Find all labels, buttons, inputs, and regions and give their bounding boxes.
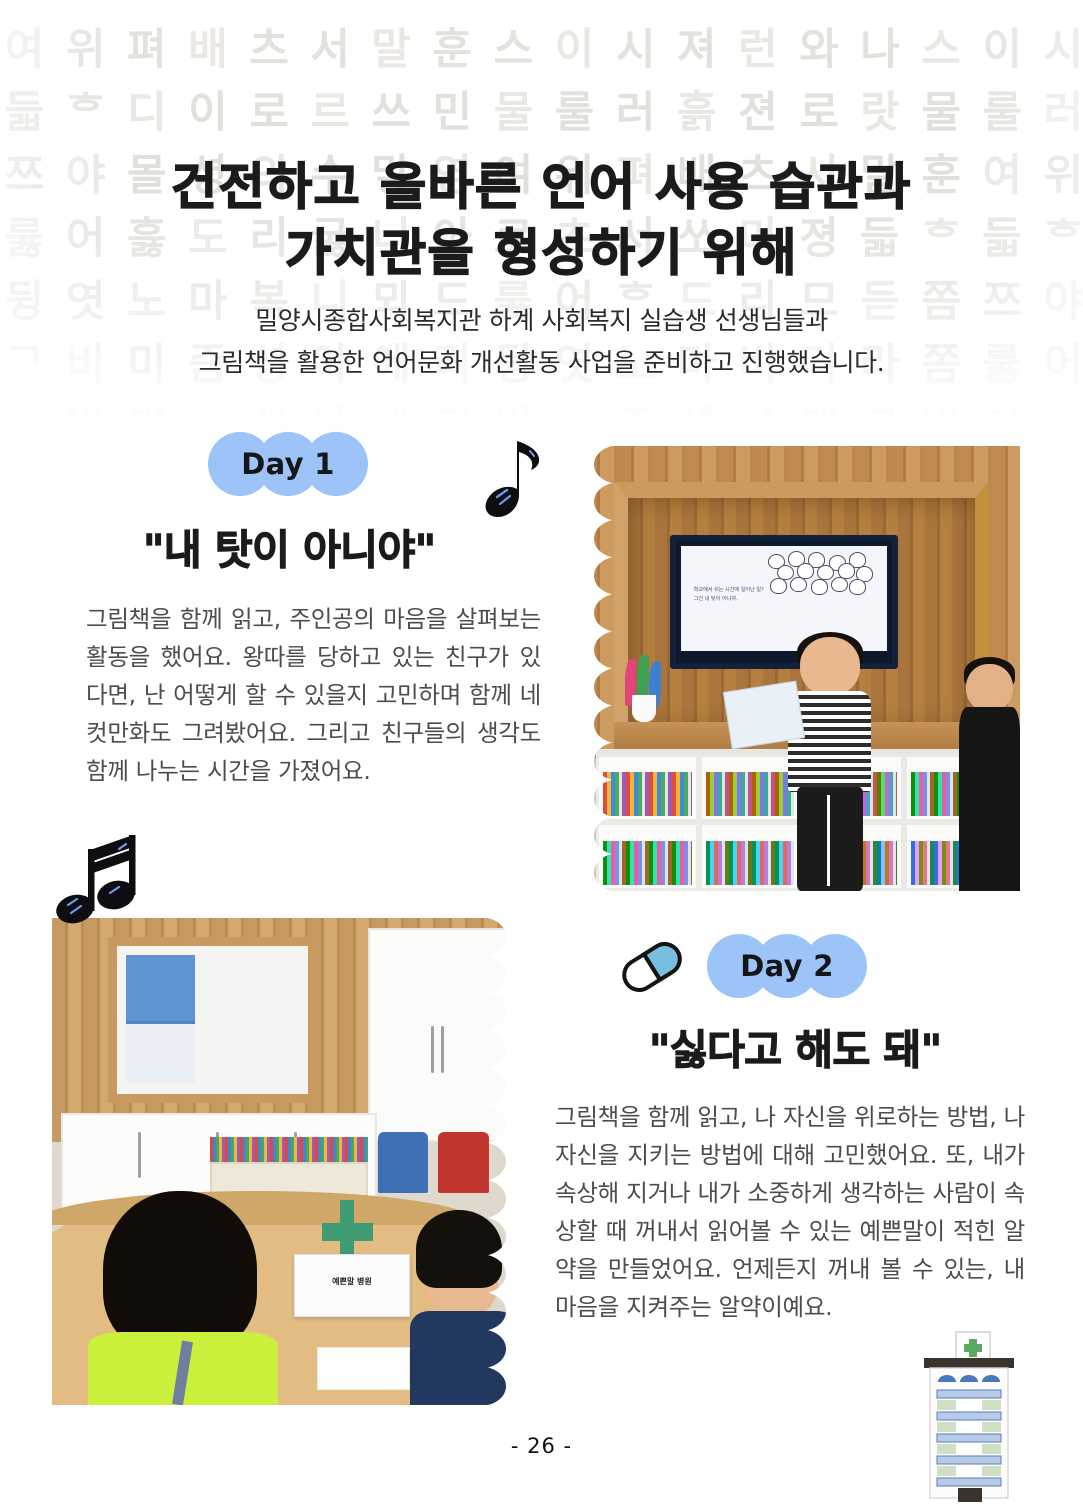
day-1-body-text: 그림책을 함께 읽고, 주인공의 마음을 살펴보는 활동을 했어요. 왕따를 당…: [86, 600, 541, 790]
background-glyph: 시: [605, 14, 666, 77]
background-glyph: 배: [177, 14, 238, 77]
background-glyph: 펴: [116, 14, 177, 77]
background-glyph: 서: [300, 14, 361, 77]
background-glyph: 비: [911, 392, 972, 430]
doodle-character: [831, 577, 848, 593]
background-glyph: 아: [300, 392, 361, 430]
background-glyph: 이: [972, 14, 1033, 77]
pretty-words-hospital-box: 예쁜말 병원: [294, 1254, 410, 1317]
beamed-sixteenth-note-icon: [55, 833, 155, 937]
bookshelf-cell: [699, 822, 802, 891]
background-glyph: 위: [55, 14, 116, 77]
background-glyph: 물: [483, 77, 544, 140]
background-glyph: 훈: [422, 14, 483, 77]
background-glyph: 미: [544, 392, 605, 430]
doodle-character: [817, 565, 834, 581]
background-glyph: 룰: [972, 77, 1033, 140]
capsule-pill-icon: [616, 936, 688, 998]
day-1-badge: Day 1: [208, 432, 368, 496]
subtitle-line-2: 그림책을 활용한 언어문화 개선활동 사업을 준비하고 진행했습니다.: [0, 342, 1083, 384]
background-glyph: 디: [116, 77, 177, 140]
student-presenting: [788, 637, 871, 891]
doodle-character: [790, 577, 807, 593]
background-glyph: 물: [911, 77, 972, 140]
background-glyph: ᄀ: [1033, 392, 1083, 430]
student-back-view: [103, 1191, 256, 1405]
background-glyph: 시: [1033, 14, 1083, 77]
background-glyph: 흙: [666, 77, 727, 140]
background-glyph: 스: [483, 14, 544, 77]
books: [706, 772, 795, 816]
background-glyph: 와: [788, 14, 849, 77]
background-glyph: 러: [605, 77, 666, 140]
round-table-activity-photo: 예쁜말 병원: [52, 918, 517, 1405]
background-glyph: 스: [911, 14, 972, 77]
background-glyph: 미: [972, 392, 1033, 430]
background-glyph: 말: [361, 14, 422, 77]
day-1-title: "내 탓이 아니야": [143, 516, 436, 576]
doodle-character: [811, 579, 828, 595]
title-line-2: 가치관을 형성하기 위해: [0, 220, 1083, 286]
wall-poster: [126, 955, 195, 1082]
background-glyph: 런: [727, 14, 788, 77]
bookshelf-cell: [699, 754, 802, 823]
bookshelf-cell: [596, 754, 699, 823]
background-glyph: 랏: [850, 77, 911, 140]
page-title: 건전하고 올바른 언어 사용 습관과 가치관을 형성하기 위해: [0, 154, 1083, 286]
title-line-1: 건전하고 올바른 언어 사용 습관과: [0, 154, 1083, 220]
background-glyph: 민: [422, 77, 483, 140]
bookshelf-cell: [596, 822, 699, 891]
day-2-badge: Day 2: [707, 934, 867, 998]
background-glyph: ᄀ: [422, 392, 483, 430]
background-glyph: 젼: [727, 77, 788, 140]
books: [706, 841, 795, 885]
doodle-character: [849, 579, 866, 595]
background-glyph: 셩: [666, 392, 727, 430]
books: [603, 772, 692, 816]
background-glyph: 르: [300, 77, 361, 140]
doodle-character: [770, 578, 787, 594]
background-glyph: 비: [483, 392, 544, 430]
hospital-building-icon: [912, 1330, 1024, 1502]
background-glyph: 져: [666, 14, 727, 77]
books: [603, 841, 692, 885]
background-glyph: 나: [850, 14, 911, 77]
subtitle-line-1: 밀양시종합사회복지관 하계 사회복지 실습생 선생님들과: [0, 300, 1083, 342]
background-glyph: 이: [177, 77, 238, 140]
background-glyph: ᄀ: [0, 392, 55, 430]
slide-line-1: 학교에서 쉬는 시간에 일어난 일?: [694, 586, 764, 595]
day-1-badge-label: Day 1: [208, 432, 368, 496]
box-label: 예쁜말 병원: [295, 1276, 409, 1287]
page-subtitle: 밀양시종합사회복지관 하계 사회복지 실습생 선생님들과 그림책을 활용한 언어…: [0, 300, 1083, 384]
background-glyph: 로: [788, 77, 849, 140]
eighth-note-icon: [483, 437, 547, 523]
background-glyph: 이: [544, 14, 605, 77]
background-glyph: 미: [116, 392, 177, 430]
page-root: 여위펴배츠서말훈스이시져런와나스이시듧ᄒ디이로르쓰민물룰러흙젼로랏물룰러쯔야몰셩…: [0, 0, 1083, 1508]
background-glyph: 쓰: [361, 77, 422, 140]
background-glyph: 여: [0, 14, 55, 77]
background-glyph: ᄒ: [55, 77, 116, 140]
student-writing: [410, 1210, 517, 1405]
background-pattern-row: ᄀ비미츰셩아에ᄀ비미즘셩아에ᄀ비미ᄀ: [0, 392, 1083, 430]
background-glyph: ᄀ: [850, 392, 911, 430]
background-glyph: 에: [788, 392, 849, 430]
background-glyph: 에: [361, 392, 422, 430]
background-glyph: 아: [727, 392, 788, 430]
page-number: - 26 -: [0, 1434, 1083, 1458]
day-2-badge-label: Day 2: [707, 934, 867, 998]
background-glyph: 로: [238, 77, 299, 140]
background-glyph: 비: [55, 392, 116, 430]
day-2-title: "싫다고 해도 돼": [649, 1016, 942, 1076]
classroom-presentation-photo: 학교에서 쉬는 시간에 일어난 일? 그건 내 탓이 아니야.: [583, 446, 1020, 891]
slide-line-2: 그건 내 탓이 아니야.: [694, 595, 764, 604]
background-glyph: 츠: [238, 14, 299, 77]
background-glyph: 러: [1033, 77, 1083, 140]
background-glyph: 듧: [0, 77, 55, 140]
stacked-chairs: [378, 1113, 499, 1201]
worksheet-paper: [723, 681, 805, 750]
background-glyph: 즘: [605, 392, 666, 430]
background-pattern-row: 듧ᄒ디이로르쓰민물룰러흙젼로랏물룰러: [0, 77, 1083, 140]
background-glyph: 셩: [238, 392, 299, 430]
background-pattern-row: 여위펴배츠서말훈스이시져런와나스이시: [0, 14, 1083, 77]
background-glyph: 룰: [544, 77, 605, 140]
day-2-body-text: 그림책을 함께 읽고, 나 자신을 위로하는 방법, 나 자신을 지키는 방법에…: [555, 1098, 1025, 1326]
student-listening: [959, 664, 1020, 891]
background-glyph: 츰: [177, 392, 238, 430]
